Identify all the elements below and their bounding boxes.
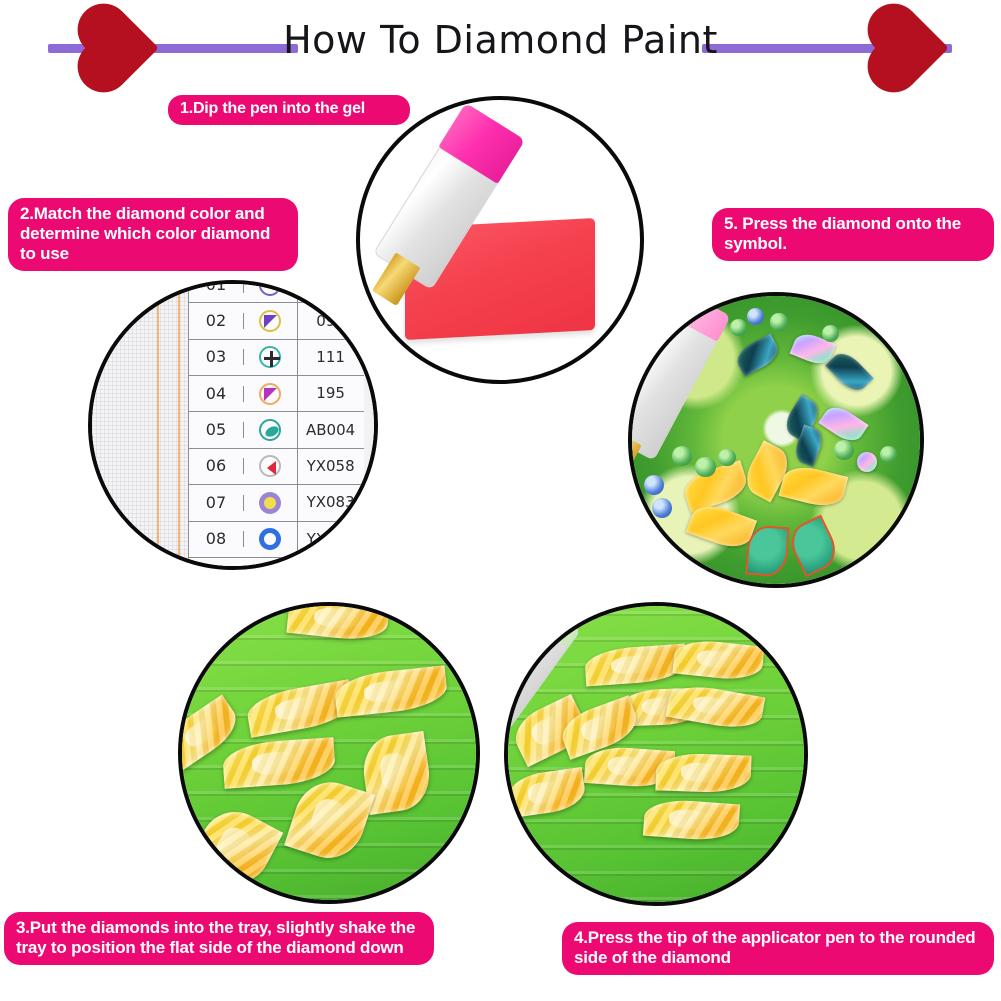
chevron-glyph	[267, 461, 276, 475]
diamond-drill	[672, 637, 764, 682]
color-chart-number: 02	[189, 313, 244, 329]
dot-glyph	[264, 497, 276, 509]
canvas-guide-line	[178, 284, 180, 566]
color-chart-code: 020	[298, 280, 364, 292]
triangle-glyph	[264, 315, 277, 328]
color-chart-code: 195	[298, 386, 364, 401]
triangle-symbol	[259, 310, 281, 332]
ellipse-glyph	[264, 424, 281, 439]
dot-glyph	[264, 281, 271, 288]
photo-pen-in-gel	[356, 96, 644, 384]
applicator-pen	[628, 292, 729, 458]
gem	[825, 348, 874, 397]
gel-photo-content	[360, 100, 640, 380]
color-chart-number: 08	[189, 531, 244, 547]
color-chart-number: 07	[189, 495, 244, 511]
ring-symbol	[259, 528, 281, 550]
canvas-fabric	[92, 284, 188, 566]
color-chart-row: 07YX083	[189, 485, 364, 521]
diamond-drill	[333, 665, 448, 718]
gem-teal-leaf	[784, 514, 843, 577]
color-chart-number: 03	[189, 349, 244, 365]
color-chart-symbol-cell	[244, 280, 297, 302]
color-chart-row: 04195	[189, 376, 364, 412]
double-dot-symbol	[259, 280, 281, 296]
diamond-tray	[182, 606, 476, 900]
page-title: How To Diamond Paint	[0, 18, 1001, 62]
color-chart-symbol-cell	[244, 485, 297, 520]
gem-round	[857, 452, 877, 472]
dot-in-ring-symbol	[259, 492, 281, 514]
color-chart-row: 08YX106	[189, 522, 364, 558]
diamond-drill	[284, 773, 375, 867]
triangle-glyph	[264, 388, 277, 401]
gem-round	[644, 475, 664, 495]
step-4-label: 4.Press the tip of the applicator pen to…	[562, 922, 994, 975]
canvas-guide-line	[157, 284, 159, 566]
diamond-drill	[187, 799, 282, 894]
color-chart-code: YX106	[298, 532, 364, 547]
color-chart-code: AB004	[298, 423, 364, 438]
color-chart-row: 02093	[189, 303, 364, 339]
gem-round	[834, 440, 854, 460]
color-chart-symbol-cell	[244, 558, 297, 570]
chevron-symbol	[259, 455, 281, 477]
gem-round	[880, 446, 897, 463]
step-5-label: 5. Press the diamond onto the symbol.	[712, 208, 994, 261]
color-chart-symbol-cell	[244, 449, 297, 484]
diamond-drill	[286, 602, 389, 643]
mandala-canvas	[632, 296, 920, 584]
gem-round	[652, 498, 672, 518]
triangle-symbol	[259, 383, 281, 405]
gem-yellow	[779, 462, 849, 511]
chart-photo-content: 0102002093031110419505AB00406YX05807YX08…	[92, 284, 374, 566]
diamond-drill	[643, 798, 740, 843]
diamond-drill	[505, 767, 587, 819]
gem-round	[822, 325, 839, 342]
gem-round	[672, 446, 692, 466]
gem-round	[747, 308, 764, 325]
color-chart-row: 09YX125	[189, 558, 364, 570]
photo-place-on-symbol	[628, 292, 924, 588]
color-chart-code: 093	[298, 314, 364, 329]
plus-glyph	[270, 351, 273, 367]
leaf-symbol	[257, 566, 283, 570]
gem-round	[695, 457, 715, 477]
color-chart-code: YX083	[298, 495, 364, 510]
diamond-tray	[508, 606, 804, 902]
step-3-label: 3.Put the diamonds into the tray, slight…	[4, 912, 434, 965]
photo-diamonds-in-tray	[178, 602, 480, 904]
plus-symbol	[259, 346, 281, 368]
diamond-drill	[665, 681, 764, 732]
color-chart-row: 03111	[189, 340, 364, 376]
color-chart-number: 09	[189, 568, 244, 570]
color-chart-code: YX125	[298, 568, 364, 570]
color-chart-row: 01020	[189, 280, 364, 303]
color-chart-symbol-cell	[244, 522, 297, 557]
color-chart-number: 01	[189, 280, 244, 293]
color-chart-number: 05	[189, 422, 244, 438]
diamond-drill	[222, 737, 337, 789]
photo-pen-picking-diamond	[504, 602, 808, 906]
color-chart-row: 05AB004	[189, 412, 364, 448]
color-chart-number: 06	[189, 458, 244, 474]
gem-round	[730, 319, 747, 336]
color-chart-symbol-cell	[244, 303, 297, 338]
dot-glyph	[273, 281, 280, 288]
gem-teal-leaf	[745, 525, 790, 578]
gem	[732, 333, 782, 376]
ellipse-symbol	[259, 419, 281, 441]
color-chart-symbol-cell	[244, 340, 297, 375]
step-2-label: 2.Match the diamond color and determine …	[8, 198, 298, 271]
gem-round	[718, 449, 735, 466]
color-legend-table: 0102002093031110419505AB00406YX05807YX08…	[188, 280, 364, 570]
color-chart-code: 111	[298, 350, 364, 365]
color-chart-row: 06YX058	[189, 449, 364, 485]
color-chart-symbol-cell	[244, 412, 297, 447]
diamond-drill	[655, 752, 751, 794]
infographic-canvas: How To Diamond Paint 1.Dip the pen into …	[0, 0, 1001, 1001]
color-chart-number: 04	[189, 386, 244, 402]
gem-round	[770, 313, 787, 330]
color-chart-code: YX058	[298, 459, 364, 474]
color-chart-symbol-cell	[244, 376, 297, 411]
photo-color-chart: 0102002093031110419505AB00406YX05807YX08…	[88, 280, 378, 570]
step-1-label: 1.Dip the pen into the gel	[168, 95, 410, 125]
diamond-drill	[584, 644, 687, 686]
